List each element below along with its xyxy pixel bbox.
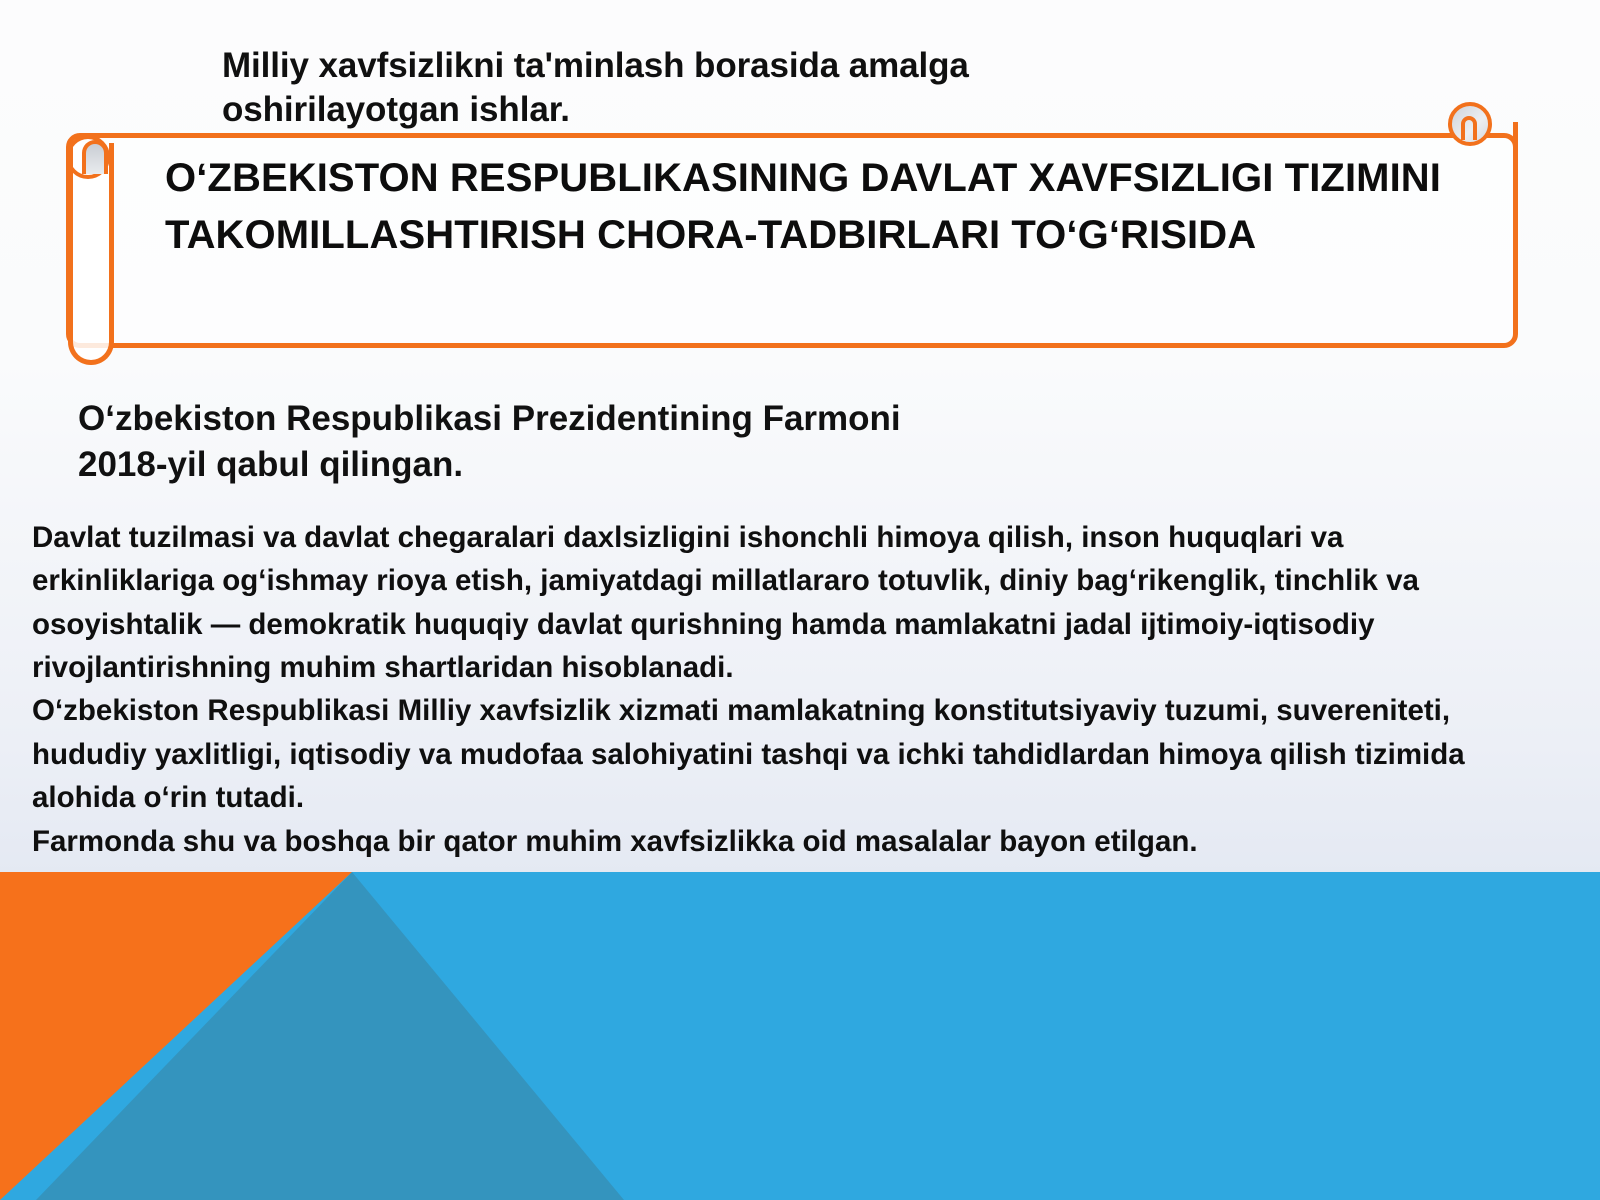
body-paragraph: Farmonda shu va boshqa bir qator muhim x…	[32, 820, 1487, 863]
slide-canvas: Milliy xavfsizlikni ta'minlash borasida …	[0, 0, 1600, 1200]
teal-triangle	[36, 872, 624, 1200]
body-paragraph: O‘zbekiston Respublikasi Milliy xavfsizl…	[32, 689, 1487, 819]
body-paragraph: Davlat tuzilmasi va davlat chegaralari d…	[32, 516, 1487, 689]
orange-triangle	[0, 872, 352, 1200]
page-title: Milliy xavfsizlikni ta'minlash borasida …	[222, 44, 1182, 132]
scroll-curl-right-inner-icon	[1461, 116, 1477, 140]
cyan-band	[0, 872, 1600, 1200]
body-content: Davlat tuzilmasi va davlat chegaralari d…	[32, 516, 1487, 863]
decree-title: O‘ZBEKISTON RESPUBLIKASINING DAVLAT XAVF…	[165, 150, 1585, 264]
decree-subtitle: O‘zbekiston Respublikasi Prezidentining …	[78, 396, 1278, 488]
scroll-curl-left-inner-icon	[82, 140, 108, 174]
